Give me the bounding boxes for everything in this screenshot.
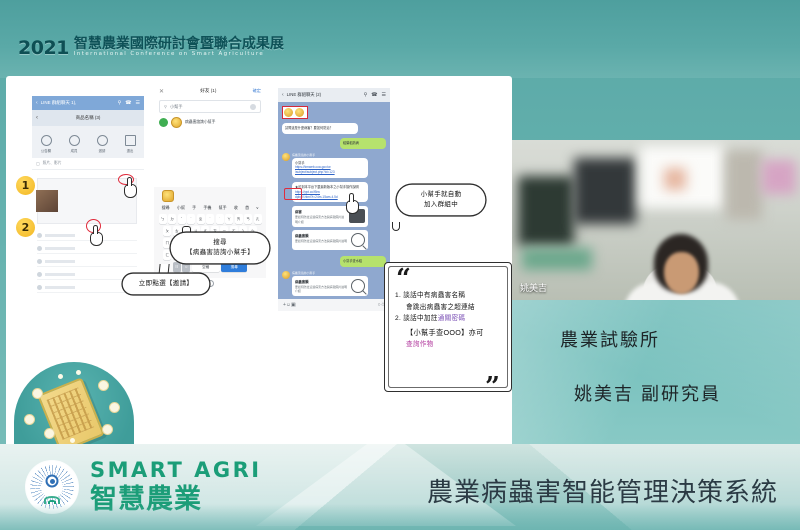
callout-search-line2: 【病蟲害諮詢小幫手】 xyxy=(186,249,254,256)
pointing-hand-icon xyxy=(346,200,359,214)
candidate-item[interactable]: 手 xyxy=(192,205,196,211)
callout-auto-line1: 小幫手就自動 xyxy=(421,191,462,198)
phone3-header: ‹ LINE 群組聊天 (2) ⚲ ☎ ☰ xyxy=(278,88,390,102)
exit-icon xyxy=(125,135,136,146)
phone3-chat-area: 請問這是什麼病害？要如何防治？ 稻葉稻熱病 病蟲害諮詢小幫手 小幫手 https… xyxy=(278,102,390,299)
slide-canvas: ‹ LINE 群組聊天 1), ⚲ ☎ ☰ ‹ 商品名稱 (3) 公告欄 xyxy=(6,76,512,444)
brand-name-en: SMART AGRI xyxy=(90,460,262,481)
phone2-keyboard[interactable]: 搜尋 小幫 手 手機 幫手 收 首 v ㄅ ㄉ ˇ ˋ ㄓ ˊ ˙ xyxy=(154,187,266,278)
invite-icon xyxy=(97,135,108,146)
chat-link[interactable]: dpbcV.html?t=24m-15am-4.5d xyxy=(295,195,365,200)
phone1-status-title: LINE 群組聊天 1), xyxy=(41,100,77,106)
search-input[interactable]: ⚲ 小幫手 xyxy=(159,100,261,113)
phone1-action-exit[interactable]: 退出 xyxy=(125,135,136,153)
phone3-input-toolbar[interactable]: + ☺ ▣ ○ ☃ xyxy=(278,299,390,311)
keyboard-bottom-row[interactable]: ☷ ☺ 空格 搜尋 xyxy=(156,262,264,272)
conference-year: 2021 xyxy=(18,39,69,58)
chat-sender-name: 病蟲害諮詢小幫手 xyxy=(292,271,386,275)
phone-screenshot-2: ✕ 好友 (1) 確定 ⚲ 小幫手 病蟲害諮詢小幫手 搜尋 小幫 手 xyxy=(154,84,266,334)
key[interactable]: ㄇ xyxy=(163,238,171,248)
list-item[interactable] xyxy=(37,230,137,241)
phone2-empty-area xyxy=(154,129,266,187)
search-icon: ⚲ xyxy=(118,100,122,106)
chat-bubble-incoming: 小幫手 https://kmweb.coa.gov.tw /subject/su… xyxy=(292,158,368,178)
chat-bubble-incoming: 請問這是什麼病害？要如何防治？ xyxy=(282,123,358,134)
phone1-action-invite[interactable]: 邀請 xyxy=(97,135,108,153)
decoration-spark-icon xyxy=(58,374,63,379)
callout-auto-join: 小幫手就自動 加入群組中 xyxy=(398,186,484,214)
phone2-search-result[interactable]: 病蟲害諮詢小幫手 xyxy=(154,115,266,129)
key[interactable]: ㄅ xyxy=(159,214,167,224)
decoration-spark-icon xyxy=(76,370,81,375)
phone1-media-thumb[interactable] xyxy=(36,190,58,212)
speaker-video-feed: 姚美吉 xyxy=(512,140,800,300)
key[interactable]: ˇ xyxy=(178,214,186,224)
gallery-icon[interactable]: ▣ xyxy=(291,302,296,308)
clear-circle-icon[interactable] xyxy=(250,104,256,110)
members-icon xyxy=(69,135,80,146)
candidate-item[interactable]: v xyxy=(256,205,258,211)
list-item[interactable] xyxy=(37,243,137,254)
list-item[interactable] xyxy=(37,256,137,267)
decoration-dot-icon xyxy=(98,380,109,391)
quote-open-mark: “ xyxy=(396,266,411,292)
key[interactable]: ㄢ xyxy=(244,214,252,224)
key[interactable]: ㄞ xyxy=(235,214,243,224)
hamburger-menu-icon[interactable]: ☰ xyxy=(136,100,140,106)
list-item[interactable] xyxy=(37,282,137,293)
speaker-caption-panel: 農業試驗所 姚美吉 副研究員 xyxy=(512,300,800,444)
presentation-title: 農業病蟲害智能管理決策系統 xyxy=(427,472,778,509)
key[interactable]: ˙ xyxy=(216,214,224,224)
key[interactable]: ˋ xyxy=(187,214,195,224)
phone1-action-announce[interactable]: 公告欄 xyxy=(41,135,52,153)
callout-search: 搜尋 【病蟲害諮詢小幫手】 xyxy=(172,234,268,262)
conference-title-cn: 智慧農業國際研討會暨聯合成果展 xyxy=(74,36,284,50)
candidate-item[interactable]: 小幫 xyxy=(177,205,185,211)
quote-line-3: 2. 談話中加註通關密碼 xyxy=(395,313,503,325)
quote-line-5: 查詢作物 xyxy=(395,339,503,351)
quote-line-2: 會跳出病蟲害之超連結 xyxy=(395,302,503,314)
speaker-name-title: 姚美吉 副研究員 xyxy=(560,380,800,406)
key[interactable]: ㄈ xyxy=(163,250,171,260)
gallery-icon: ▢ xyxy=(36,161,40,166)
close-icon[interactable]: ✕ xyxy=(159,88,164,95)
quote-panel: “ ” 1. 談話中有病蟲害名稱 會跳出病蟲害之超連結 2. 談話中加註通關密碼… xyxy=(384,262,512,392)
group-avatars[interactable] xyxy=(282,106,308,119)
callout-auto-line2: 加入群組中 xyxy=(424,201,458,208)
key[interactable]: ˊ xyxy=(206,214,214,224)
brand-name-cn: 智慧農業 xyxy=(90,486,262,513)
key[interactable]: ㄉ xyxy=(168,214,176,224)
keyboard-row[interactable]: ㄅ ㄉ ˇ ˋ ㄓ ˊ ˙ ㄚ ㄞ ㄢ ㄦ xyxy=(156,214,264,224)
candidate-item[interactable]: 首 xyxy=(245,205,249,211)
chat-card[interactable]: 病蟲害類 要如何防治這些病害方法與病徵圖片說明 xyxy=(292,230,368,250)
chat-message-row: 病蟲害諮詢小幫手 病蟲害類 要如何防治這些病害方法與病徵圖片說明介紹 xyxy=(282,271,386,299)
space-key[interactable]: 空格 xyxy=(192,262,220,272)
phone1-subheader: ‹ 商品名稱 (3) xyxy=(32,110,144,126)
phone2-header: ✕ 好友 (1) 確定 xyxy=(154,84,266,98)
phone-icon[interactable]: ☎ xyxy=(371,92,377,98)
decoration-dot-icon xyxy=(32,388,43,399)
chat-link[interactable]: /subject/subject.php?id=123 xyxy=(295,170,365,175)
avatar xyxy=(295,108,304,117)
search-icon[interactable]: ⚲ xyxy=(364,92,368,98)
annotation-ring-group-avatars xyxy=(284,188,302,200)
hamburger-menu-icon[interactable]: ☰ xyxy=(382,92,386,98)
step-badge-2: 2 xyxy=(16,218,35,237)
avatar xyxy=(282,153,290,161)
phone1-status-bar: ‹ LINE 群組聊天 1), ⚲ ☎ ☰ xyxy=(32,96,144,110)
decoration-dot-icon xyxy=(109,402,120,413)
avatar xyxy=(282,271,290,279)
quote-line-3a: 2. 談話中加註 xyxy=(395,315,438,322)
conference-title-en: International Conference on Smart Agricu… xyxy=(74,52,284,58)
candidate-item[interactable]: 手機 xyxy=(203,205,211,211)
key[interactable]: ㄓ xyxy=(197,214,205,224)
phone1-list-header: ▢ 照片、影片 xyxy=(32,158,144,170)
chat-bubble-outgoing: 小幫手查水稻 xyxy=(340,256,386,267)
magnifier-icon xyxy=(351,233,365,247)
pointing-hand-icon xyxy=(90,232,103,246)
callout-invite: 立即點選【邀請】 xyxy=(124,275,208,293)
bottom-banner: SMART AGRI 智慧農業 農業病蟲害智能管理決策系統 xyxy=(0,444,800,530)
list-item[interactable] xyxy=(37,269,137,280)
keyboard-candidates[interactable]: 搜尋 小幫 手 手機 幫手 收 首 v xyxy=(156,205,264,214)
key[interactable]: ㄆ xyxy=(163,226,171,236)
search-key[interactable]: 搜尋 xyxy=(221,262,247,272)
search-input-value: 小幫手 xyxy=(170,104,183,110)
quote-close-mark: ” xyxy=(485,374,500,400)
megaphone-icon xyxy=(41,135,52,146)
phone-icon: ☎ xyxy=(125,100,131,106)
quote-line-4: 【小幫手查OOO】亦可 xyxy=(395,327,503,340)
conference-logo: 2021 智慧農業國際研討會暨聯合成果展 International Confe… xyxy=(18,36,284,58)
quote-line-1: 1. 談話中有病蟲害名稱 xyxy=(395,290,503,302)
phone1-action-members[interactable]: 成員 xyxy=(69,135,80,153)
keyboard-switch-icon[interactable]: ☷ xyxy=(173,262,181,272)
phone1-action-row: 公告欄 成員 邀請 退出 xyxy=(32,126,144,158)
chevron-left-icon[interactable]: ‹ xyxy=(36,115,38,121)
step-badge-1: 1 xyxy=(16,176,35,195)
key[interactable]: ㄦ xyxy=(254,214,262,224)
callout-search-line1: 搜尋 xyxy=(213,239,227,246)
avatar xyxy=(171,117,182,128)
conference-header-band: 2021 智慧農業國際研討會暨聯合成果展 International Confe… xyxy=(0,0,800,78)
presentation-screenshot: 2021 智慧農業國際研討會暨聯合成果展 International Confe… xyxy=(0,0,800,530)
decoration-dot-icon xyxy=(102,424,113,435)
emoji-icon[interactable]: ☺ xyxy=(182,262,190,272)
app-icon xyxy=(162,190,174,202)
speaker-organization: 農業試驗所 xyxy=(560,326,800,352)
decoration-dot-icon xyxy=(44,428,55,439)
candidate-item[interactable]: 幫手 xyxy=(219,205,227,211)
pointing-hand-icon xyxy=(124,184,137,198)
chevron-left-icon[interactable]: ‹ xyxy=(282,92,284,98)
candidate-item[interactable]: 搜尋 xyxy=(162,205,170,211)
avatar xyxy=(284,108,293,117)
magnifier-icon xyxy=(351,279,365,293)
checkbox-checked-icon[interactable] xyxy=(159,118,168,127)
chat-card[interactable]: 病蟲害類 要如何防治這些病害方法與病徵圖片說明介紹 xyxy=(292,276,368,296)
key[interactable]: ㄚ xyxy=(225,214,233,224)
phone3-title: LINE 群組聊天 (2) xyxy=(287,92,321,98)
quote-line-3b: 通關密碼 xyxy=(438,315,466,322)
phone2-result-name: 病蟲害諮詢小幫手 xyxy=(185,120,215,125)
brand-lockup: SMART AGRI 智慧農業 xyxy=(26,460,262,513)
video-overlay-name: 姚美吉 xyxy=(520,281,547,294)
search-icon: ⚲ xyxy=(164,104,167,109)
phone2-title: 好友 (1) xyxy=(200,88,216,94)
slide-decoration xyxy=(14,362,134,444)
phone-screenshot-3: ‹ LINE 群組聊天 (2) ⚲ ☎ ☰ 請問這是什麼病害？要如何防治？ 稻葉 xyxy=(278,88,390,328)
decoration-dot-icon xyxy=(24,414,35,425)
chat-message-row: 病蟲害諮詢小幫手 小幫手 https://kmweb.coa.gov.tw /s… xyxy=(282,153,386,253)
callout-tail xyxy=(392,222,400,231)
smart-agri-eye-wifi-logo xyxy=(26,461,78,513)
confirm-button[interactable]: 確定 xyxy=(253,88,261,94)
decoration-spark-icon xyxy=(70,438,75,443)
candidate-item[interactable]: 收 xyxy=(234,205,238,211)
phone1-sub-title: 商品名稱 (3) xyxy=(76,115,101,121)
chat-bubble-outgoing: 稻葉稻熱病 xyxy=(340,138,386,149)
chat-sender-name: 病蟲害諮詢小幫手 xyxy=(292,153,386,157)
